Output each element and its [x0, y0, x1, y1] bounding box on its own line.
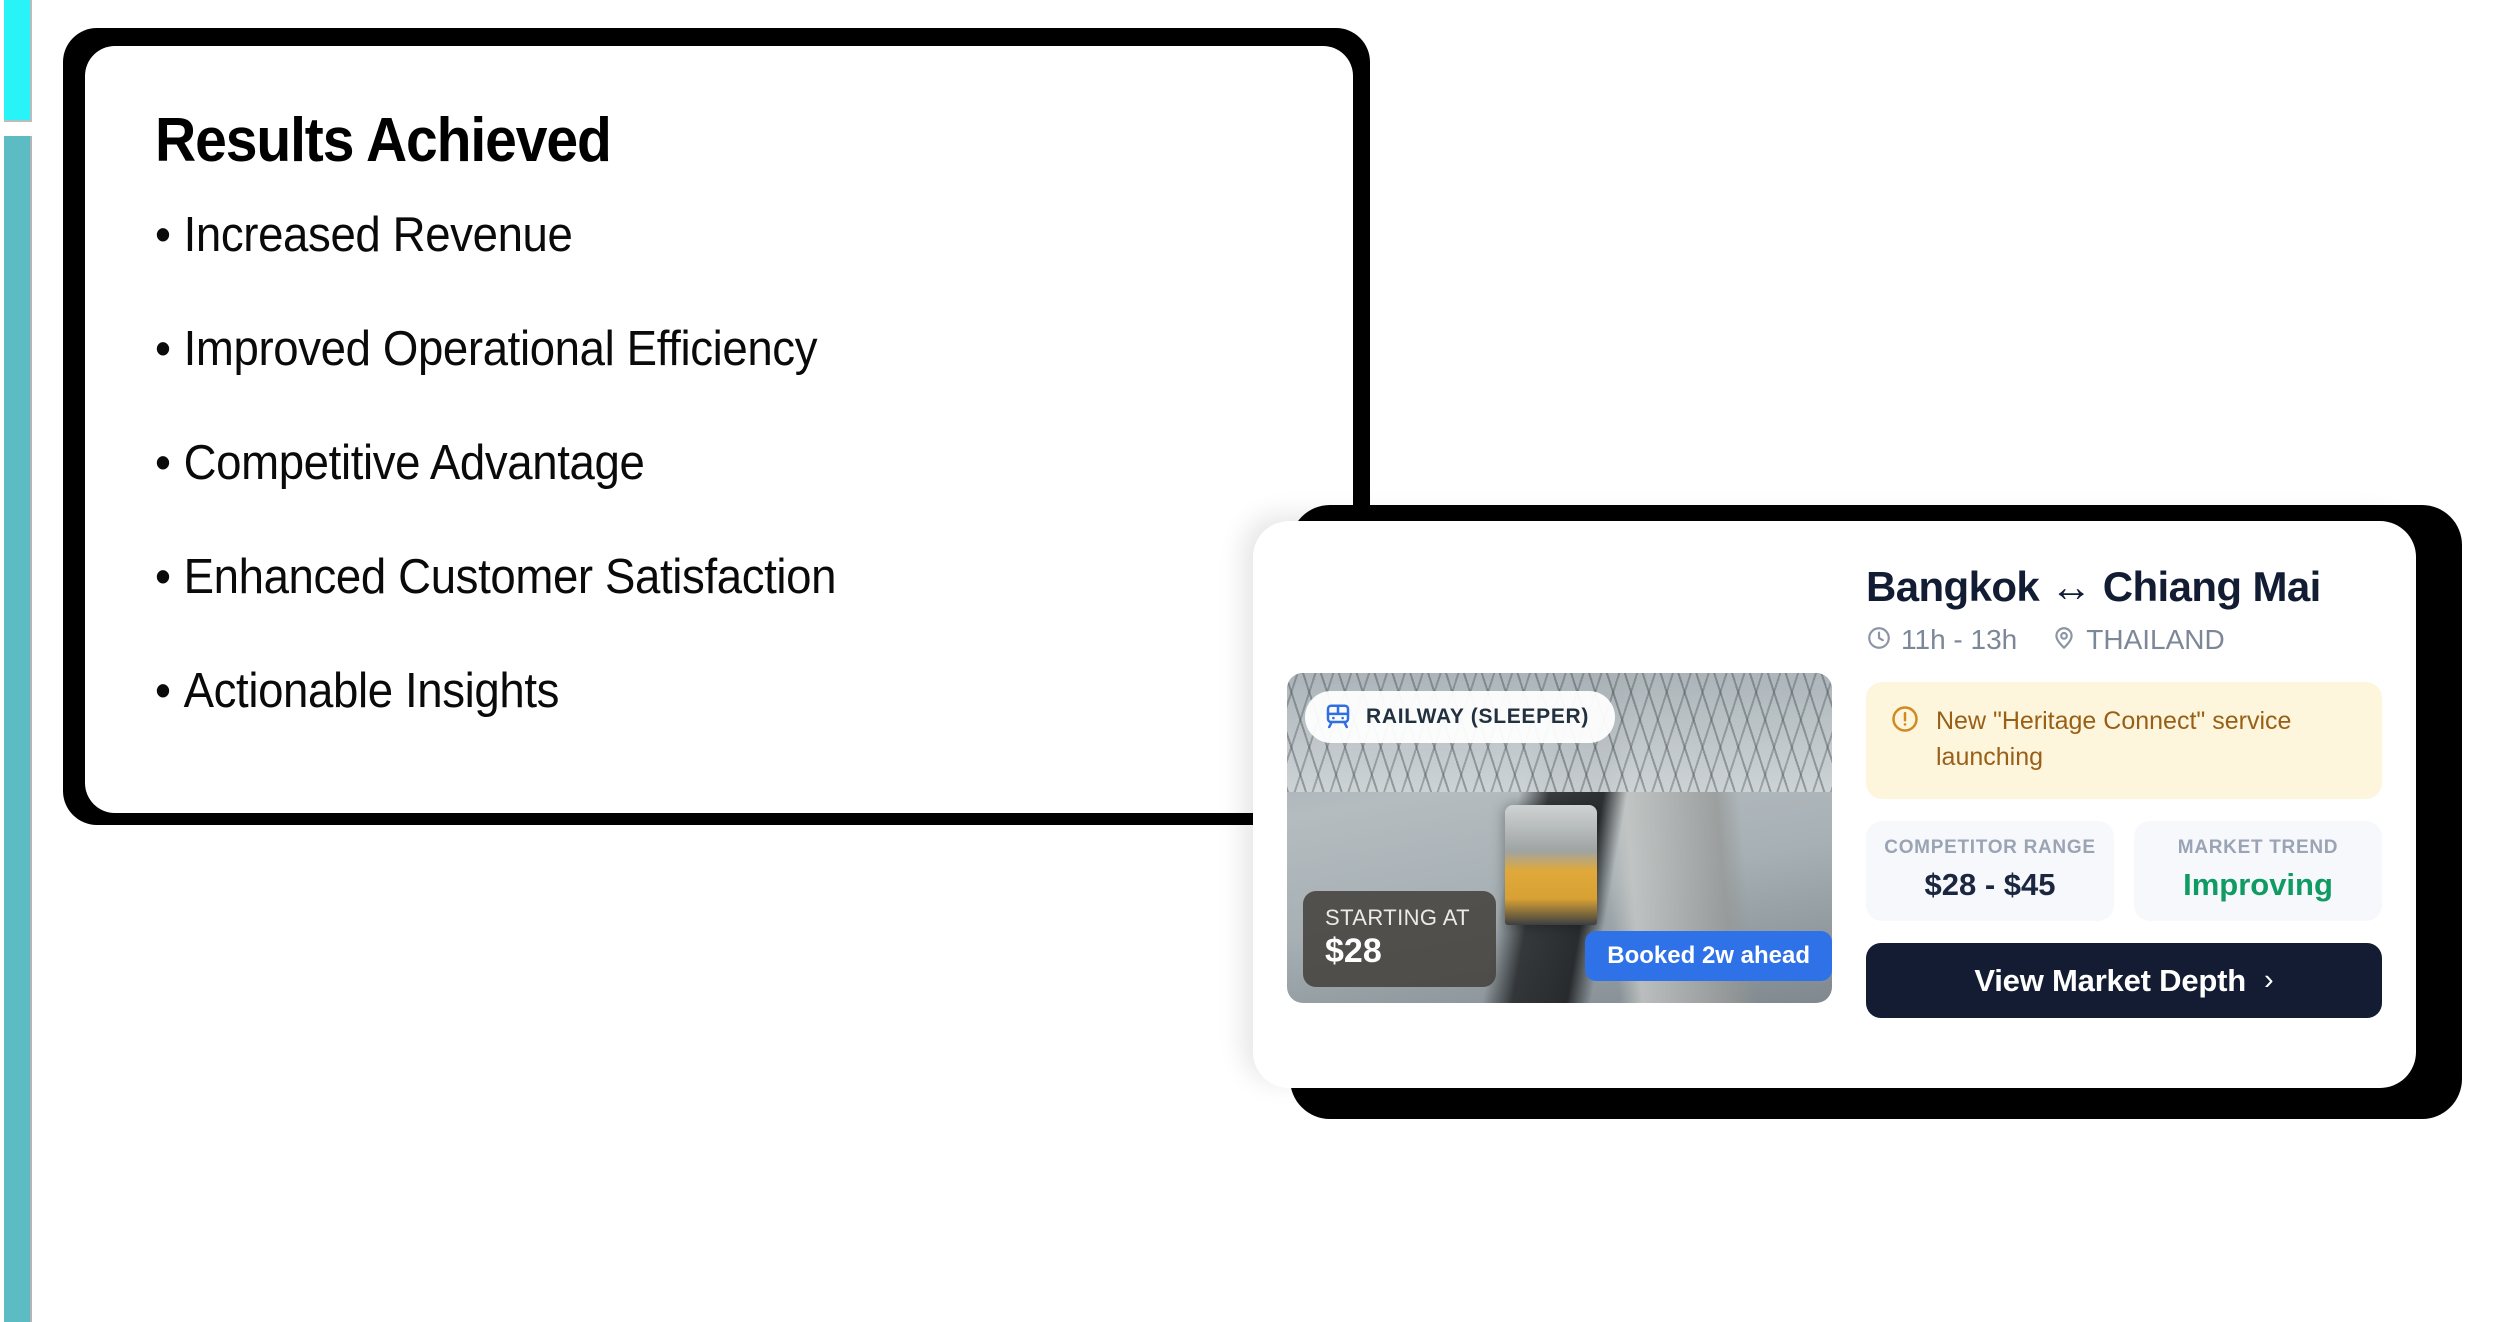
- booked-ahead-badge: Booked 2w ahead: [1585, 931, 1832, 981]
- list-item: •Enhanced Customer Satisfaction: [155, 551, 1204, 605]
- map-pin-icon: [2051, 625, 2077, 656]
- route-info-panel: Bangkok ↔ Chiang Mai 11h - 13h: [1866, 557, 2382, 1052]
- route-duration-label: 11h - 13h: [1901, 624, 2017, 656]
- stat-value: Improving: [2144, 867, 2372, 903]
- starting-price-caption: STARTING AT: [1325, 904, 1470, 932]
- list-item-label: Increased Revenue: [184, 208, 573, 262]
- screen-canvas: Results Achieved •Increased Revenue •Imp…: [0, 0, 2507, 1322]
- left-accent-strip-teal: [4, 136, 32, 1322]
- route-meta-row: 11h - 13h THAILAND: [1866, 624, 2382, 656]
- stat-row: COMPETITOR RANGE $28 - $45 MARKET TREND …: [1866, 821, 2382, 921]
- results-card-title: Results Achieved: [155, 108, 1193, 173]
- list-item: •Increased Revenue: [155, 209, 1204, 263]
- chevron-right-icon: ›: [2264, 964, 2274, 997]
- list-item-label: Actionable Insights: [184, 664, 559, 718]
- route-duration: 11h - 13h: [1866, 624, 2017, 656]
- stat-market-trend: MARKET TREND Improving: [2134, 821, 2382, 921]
- service-alert-banner: New "Heritage Connect" service launching: [1866, 682, 2382, 799]
- bullet-glyph: •: [155, 664, 171, 718]
- bullet-glyph: •: [155, 208, 171, 262]
- starting-price-amount: $28: [1325, 932, 1470, 971]
- list-item: •Improved Operational Efficiency: [155, 323, 1204, 377]
- list-item-label: Enhanced Customer Satisfaction: [184, 550, 837, 604]
- stat-competitor-range: COMPETITOR RANGE $28 - $45: [1866, 821, 2114, 921]
- bullet-glyph: •: [155, 436, 171, 490]
- route-location-label: THAILAND: [2086, 624, 2224, 656]
- route-media[interactable]: RAILWAY (SLEEPER) STARTING AT $28 Booked…: [1287, 673, 1832, 1003]
- route-title: Bangkok ↔ Chiang Mai: [1866, 563, 2382, 611]
- left-accent-strip-cyan: [4, 0, 32, 122]
- starting-price-badge: STARTING AT $28: [1303, 891, 1496, 987]
- service-alert-message: New "Heritage Connect" service launching: [1936, 704, 2356, 775]
- alert-circle-icon: [1890, 704, 1920, 739]
- bullet-glyph: •: [155, 322, 171, 376]
- transport-type-label: RAILWAY (SLEEPER): [1366, 705, 1589, 729]
- view-market-depth-button[interactable]: View Market Depth ›: [1866, 943, 2382, 1018]
- route-detail-card: RAILWAY (SLEEPER) STARTING AT $28 Booked…: [1253, 521, 2416, 1088]
- booked-ahead-label: Booked 2w ahead: [1607, 942, 1810, 969]
- list-item-label: Competitive Advantage: [184, 436, 645, 490]
- bullet-glyph: •: [155, 550, 171, 604]
- route-location: THAILAND: [2051, 624, 2224, 656]
- list-item: •Competitive Advantage: [155, 437, 1204, 491]
- train-icon: [1323, 702, 1353, 732]
- clock-icon: [1866, 625, 1892, 656]
- list-item-label: Improved Operational Efficiency: [184, 322, 818, 376]
- view-market-depth-label: View Market Depth: [1974, 963, 2246, 999]
- stat-label: COMPETITOR RANGE: [1876, 837, 2104, 859]
- transport-type-badge: RAILWAY (SLEEPER): [1305, 691, 1615, 743]
- results-achieved-card: Results Achieved •Increased Revenue •Imp…: [85, 46, 1353, 813]
- results-bullet-list: •Increased Revenue •Improved Operational…: [155, 209, 1283, 718]
- list-item: •Actionable Insights: [155, 665, 1204, 719]
- stat-label: MARKET TREND: [2144, 837, 2372, 859]
- stat-value: $28 - $45: [1876, 867, 2104, 903]
